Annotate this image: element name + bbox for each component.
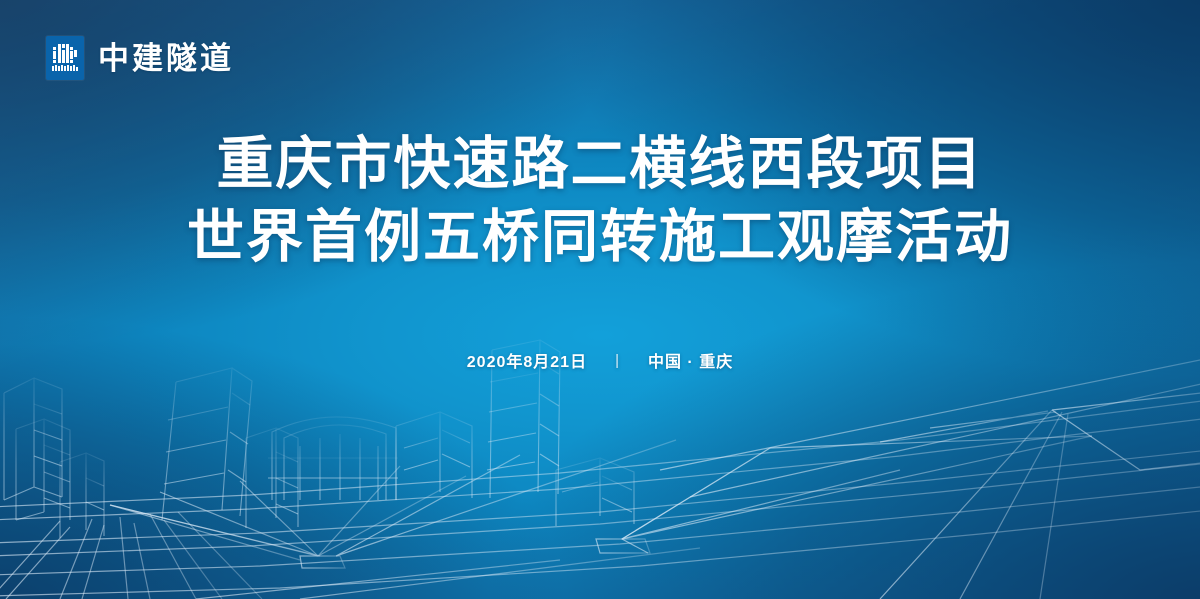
event-location: 中国 · 重庆 xyxy=(648,348,733,372)
cscec-logo-icon xyxy=(46,36,84,80)
event-meta: 2020年8月21日 | 中国 · 重庆 xyxy=(0,348,1200,372)
event-banner: 中建隧道 重庆市快速路二横线西段项目 世界首例五桥同转施工观摩活动 2020年8… xyxy=(0,0,1200,599)
banner-title-block: 重庆市快速路二横线西段项目 世界首例五桥同转施工观摩活动 xyxy=(0,128,1200,274)
event-date: 2020年8月21日 xyxy=(467,348,587,372)
company-name: 中建隧道 xyxy=(98,43,234,74)
meta-separator: | xyxy=(615,352,620,369)
background-sheen xyxy=(0,0,1200,599)
title-line-2: 世界首例五桥同转施工观摩活动 xyxy=(0,201,1200,274)
title-line-1: 重庆市快速路二横线西段项目 xyxy=(0,128,1200,201)
brand-logo: 中建隧道 xyxy=(46,36,234,80)
